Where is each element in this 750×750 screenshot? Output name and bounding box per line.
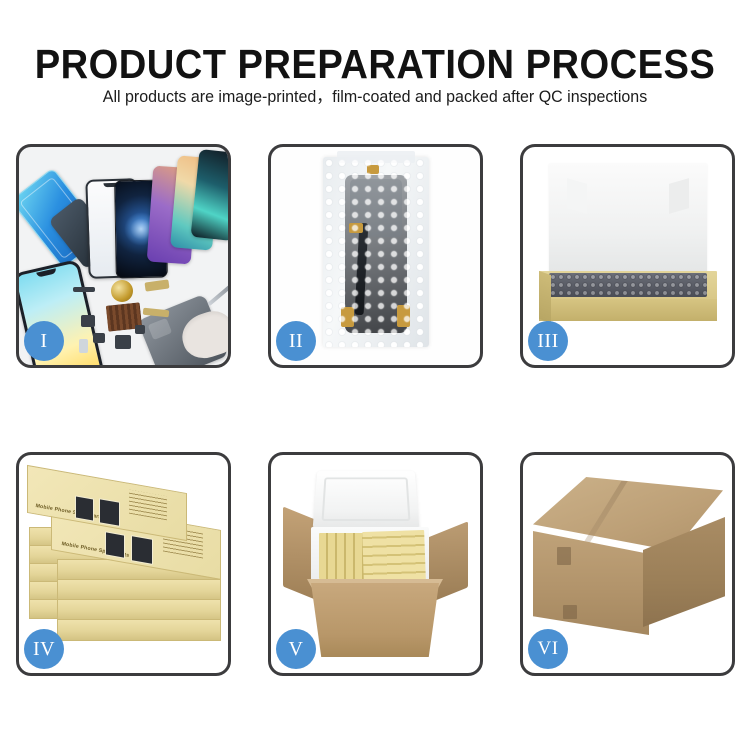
small-part-clip — [79, 339, 88, 353]
small-part-block — [81, 315, 95, 327]
small-part-camera — [115, 335, 131, 349]
step-badge-4: IV — [24, 629, 64, 669]
step-panel-2[interactable]: II — [268, 144, 483, 368]
step-panel-1[interactable]: I — [16, 144, 231, 368]
page-title: PRODUCT PREPARATION PROCESS — [26, 44, 724, 85]
bubble-wrap-lining — [549, 273, 707, 297]
stacked-box-r2 — [57, 579, 221, 601]
foam-box-lid — [313, 471, 420, 529]
step-panel-5[interactable]: V — [268, 452, 483, 676]
step-panel-4[interactable]: Mobile Phone Spare Parts Mobile Phone Sp… — [16, 452, 231, 676]
foam-flap-right — [669, 178, 689, 214]
step-panel-6[interactable]: VI — [520, 452, 735, 676]
gold-tape-lowerR — [397, 305, 410, 327]
gold-tape-top — [367, 165, 379, 174]
tweezers-tool — [207, 284, 228, 306]
box-product-image-2b — [131, 535, 153, 565]
step-badge-1: I — [24, 321, 64, 361]
kraft-box-front — [539, 299, 717, 321]
product-preparation-process-page: PRODUCT PREPARATION PROCESS All products… — [0, 0, 750, 750]
foam-flap-left — [567, 178, 587, 214]
step-panel-3[interactable]: III — [520, 144, 735, 368]
flex-cable-part — [144, 279, 169, 291]
gold-tape-lowerL — [341, 307, 354, 327]
speaker-coil-part — [111, 280, 133, 302]
sealed-carton-front — [533, 531, 649, 635]
small-part-bar — [73, 287, 95, 292]
box-product-image-1a — [75, 495, 94, 521]
page-subtitle: All products are image-printed，film-coat… — [11, 88, 739, 108]
foam-lid — [549, 163, 707, 283]
stacked-box-r3 — [57, 599, 221, 621]
step-badge-3: III — [528, 321, 568, 361]
kraft-box-left-edge — [539, 271, 551, 323]
carton-tab-lower — [563, 605, 577, 619]
box-product-image-1b — [99, 498, 120, 527]
gold-tape-mid — [349, 223, 363, 233]
small-part-screw — [135, 325, 145, 334]
box-product-image-2a — [105, 531, 125, 559]
stacked-box-r4 — [57, 619, 221, 641]
carton-tab-upper — [557, 547, 571, 565]
bag-seal-top — [337, 151, 415, 163]
box-stack: Mobile Phone Spare Parts Mobile Phone Sp… — [27, 467, 225, 657]
step-badge-2: II — [276, 321, 316, 361]
process-steps-grid: I II — [16, 144, 735, 690]
step-badge-6: VI — [528, 629, 568, 669]
bubble-wrap-bag — [323, 157, 429, 347]
step-badge-5: V — [276, 629, 316, 669]
packed-boxes-row-2 — [362, 530, 426, 582]
small-part-chip — [93, 333, 105, 343]
carton-body — [311, 583, 439, 657]
